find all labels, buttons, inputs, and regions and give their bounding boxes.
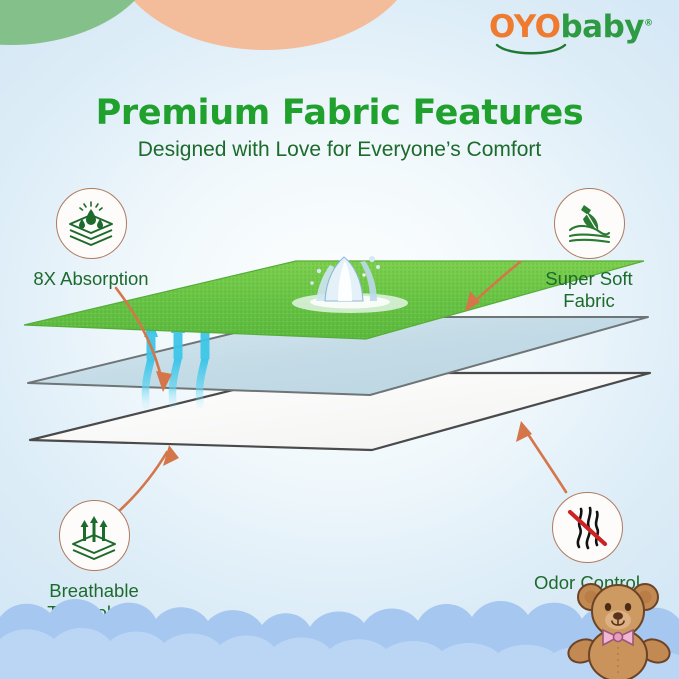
infographic-canvas: OYObaby® Premium Fabric Features Designe… bbox=[0, 0, 679, 679]
brand-name-part2: baby bbox=[560, 9, 644, 45]
feature-icon-wrapper-breathable bbox=[59, 500, 130, 571]
feature-icon-wrapper-super-soft bbox=[554, 188, 625, 259]
brand-name-part1: OYO bbox=[489, 9, 560, 45]
smile-swoosh-icon bbox=[495, 43, 567, 57]
layers-water-drop-icon bbox=[66, 199, 116, 249]
feature-icon-wrapper-absorption bbox=[56, 188, 127, 259]
decorative-peach-arc bbox=[110, 0, 420, 50]
feature-label-super-soft-line2: Fabric bbox=[563, 290, 614, 311]
decorative-green-arc bbox=[0, 0, 160, 45]
page-title: Premium Fabric Features bbox=[0, 93, 679, 133]
registered-trademark-icon: ® bbox=[644, 19, 653, 29]
feature-absorption: 8X Absorption bbox=[6, 188, 176, 290]
page-subtitle: Designed with Love for Everyone’s Comfor… bbox=[0, 138, 679, 162]
feature-label-super-soft: Super Soft Fabric bbox=[504, 268, 674, 312]
feature-label-super-soft-line1: Super Soft bbox=[545, 268, 632, 289]
brand-logo-text: OYObaby® bbox=[489, 12, 652, 43]
layers-airflow-arrows-icon bbox=[69, 511, 119, 561]
teddy-bear-mascot bbox=[561, 567, 673, 679]
feature-label-absorption: 8X Absorption bbox=[6, 268, 176, 290]
brand-logo: OYObaby® bbox=[489, 12, 674, 58]
no-odor-icon bbox=[562, 503, 612, 553]
feature-super-soft-fabric: Super Soft Fabric bbox=[504, 188, 674, 312]
feature-icon-wrapper-odor bbox=[552, 492, 623, 563]
feather-fabric-icon bbox=[564, 199, 614, 249]
